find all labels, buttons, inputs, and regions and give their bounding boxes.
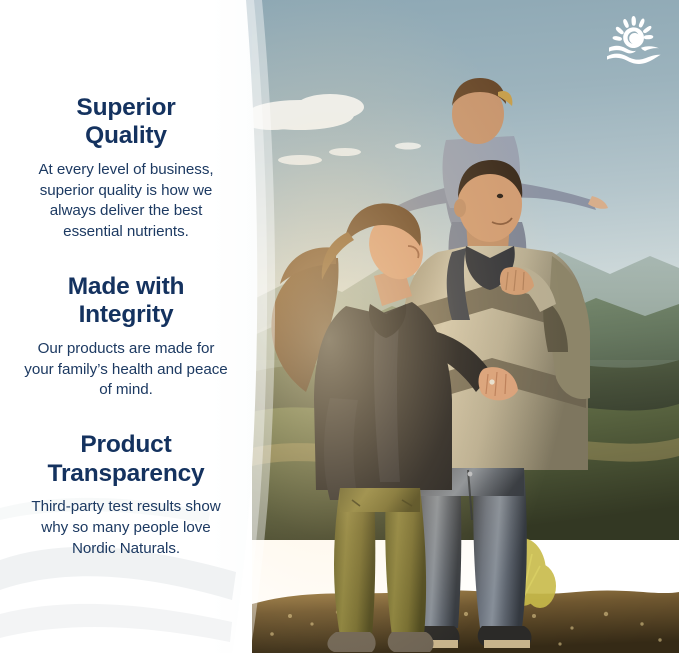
value-body-made-with-integrity: Our products are made for your family’s …: [22, 339, 230, 401]
value-title-line2: Integrity: [79, 301, 174, 328]
value-title-line2: Transparency: [48, 460, 205, 487]
value-title-product-transparency: Product Transparency: [39, 431, 214, 488]
value-block-made-with-integrity: Made with Integrity Our products are mad…: [14, 273, 238, 401]
values-copy-column: Superior Quality At every level of busin…: [0, 0, 252, 653]
value-block-superior-quality: Superior Quality At every level of busin…: [14, 94, 238, 243]
value-body-superior-quality: At every level of business, superior qua…: [22, 160, 230, 243]
value-block-product-transparency: Product Transparency Third-party test re…: [14, 431, 238, 559]
value-title-line1: Product: [80, 431, 171, 458]
sun-and-waves-logo-icon: [605, 14, 663, 66]
value-title-made-with-integrity: Made with Integrity: [39, 273, 214, 330]
value-body-product-transparency: Third-party test results show why so man…: [22, 497, 230, 559]
value-title-line1: Made with: [68, 273, 185, 300]
value-title-line2: Quality: [85, 122, 167, 149]
value-title-line1: Superior: [76, 94, 175, 121]
brand-values-banner: Superior Quality At every level of busin…: [0, 0, 679, 653]
value-title-superior-quality: Superior Quality: [39, 94, 214, 151]
